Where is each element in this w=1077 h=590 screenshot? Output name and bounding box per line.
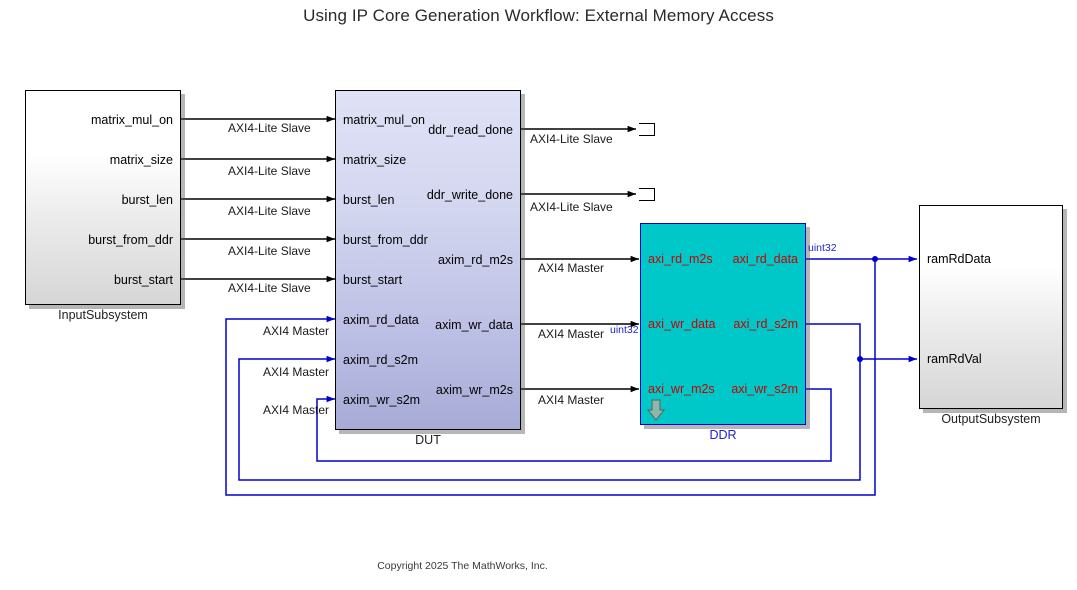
page-title: Using IP Core Generation Workflow: Exter… [0,6,1077,26]
port-out-axim-rd-m2s: axim_rd_m2s [438,254,513,267]
copyright-text: Copyright 2025 The MathWorks, Inc. [0,560,925,572]
port-out-axim-wr-data: axim_wr_data [435,319,513,332]
port-out-burst-start: burst_start [114,274,173,287]
port-in-ram-rd-data: ramRdData [927,253,991,266]
signal-label-axi4-lite-slave-3: AXI4-Lite Slave [228,205,311,217]
port-in-axim-rd-data: axim_rd_data [343,314,419,327]
block-body [919,205,1063,409]
down-arrow-icon [646,399,666,421]
block-output-subsystem[interactable]: ramRdData ramRdVal OutputSubsystem [919,205,1063,409]
port-in-axi-wr-data: axi_wr_data [648,318,715,331]
port-out-axi-rd-data: axi_rd_data [733,253,798,266]
port-out-axim-wr-m2s: axim_wr_m2s [436,384,513,397]
block-label-ddr: DDR [580,428,866,442]
port-in-axim-rd-s2m: axim_rd_s2m [343,354,418,367]
block-label-output-subsystem: OutputSubsystem [859,412,1077,426]
block-dut[interactable]: matrix_mul_on matrix_size burst_len burs… [335,90,521,430]
port-in-burst-len: burst_len [343,194,394,207]
datatype-label-uint32-rd: uint32 [808,243,837,254]
port-in-burst-from-ddr: burst_from_ddr [343,234,428,247]
block-ddr[interactable]: axi_rd_m2s axi_wr_data axi_wr_m2s axi_rd… [640,223,806,425]
signal-label-axi4-master-fb-3: AXI4 Master [263,404,329,416]
signal-label-axi4-lite-slave-1: AXI4-Lite Slave [228,122,311,134]
terminator-ddr-write-done[interactable] [639,188,655,201]
port-in-axi-rd-m2s: axi_rd_m2s [648,253,713,266]
port-out-ddr-read-done: ddr_read_done [428,124,513,137]
simulink-diagram-canvas: Using IP Core Generation Workflow: Exter… [0,0,1077,590]
terminator-ddr-read-done[interactable] [639,123,655,136]
port-in-axi-wr-m2s: axi_wr_m2s [648,383,715,396]
port-out-burst-from-ddr: burst_from_ddr [88,234,173,247]
signal-label-axi4-lite-slave-7: AXI4-Lite Slave [530,201,613,213]
signal-label-axi4-master-fb-2: AXI4 Master [263,366,329,378]
port-out-matrix-size: matrix_size [110,154,173,167]
port-out-axi-rd-s2m: axi_rd_s2m [733,318,798,331]
block-label-dut: DUT [275,433,581,447]
block-label-input-subsystem: InputSubsystem [0,308,241,322]
signal-label-axi4-lite-slave-2: AXI4-Lite Slave [228,165,311,177]
signal-label-axi4-lite-slave-5: AXI4-Lite Slave [228,282,311,294]
port-out-axi-wr-s2m: axi_wr_s2m [731,383,798,396]
port-in-axim-wr-s2m: axim_wr_s2m [343,394,420,407]
signal-label-axi4-master-1: AXI4 Master [538,262,604,274]
signal-label-axi4-master-3: AXI4 Master [538,394,604,406]
port-in-matrix-mul-on: matrix_mul_on [343,114,425,127]
signal-label-axi4-lite-slave-6: AXI4-Lite Slave [530,133,613,145]
signal-label-axi4-master-fb-1: AXI4 Master [263,325,329,337]
port-out-ddr-write-done: ddr_write_done [427,189,513,202]
port-in-burst-start: burst_start [343,274,402,287]
block-input-subsystem[interactable]: matrix_mul_on matrix_size burst_len burs… [25,90,181,305]
signal-label-axi4-lite-slave-4: AXI4-Lite Slave [228,245,311,257]
port-in-matrix-size: matrix_size [343,154,406,167]
datatype-label-uint32-wr: uint32 [610,325,639,336]
port-in-ram-rd-val: ramRdVal [927,353,982,366]
port-out-burst-len: burst_len [122,194,173,207]
port-out-matrix-mul-on: matrix_mul_on [91,114,173,127]
signal-label-axi4-master-2: AXI4 Master [538,328,604,340]
